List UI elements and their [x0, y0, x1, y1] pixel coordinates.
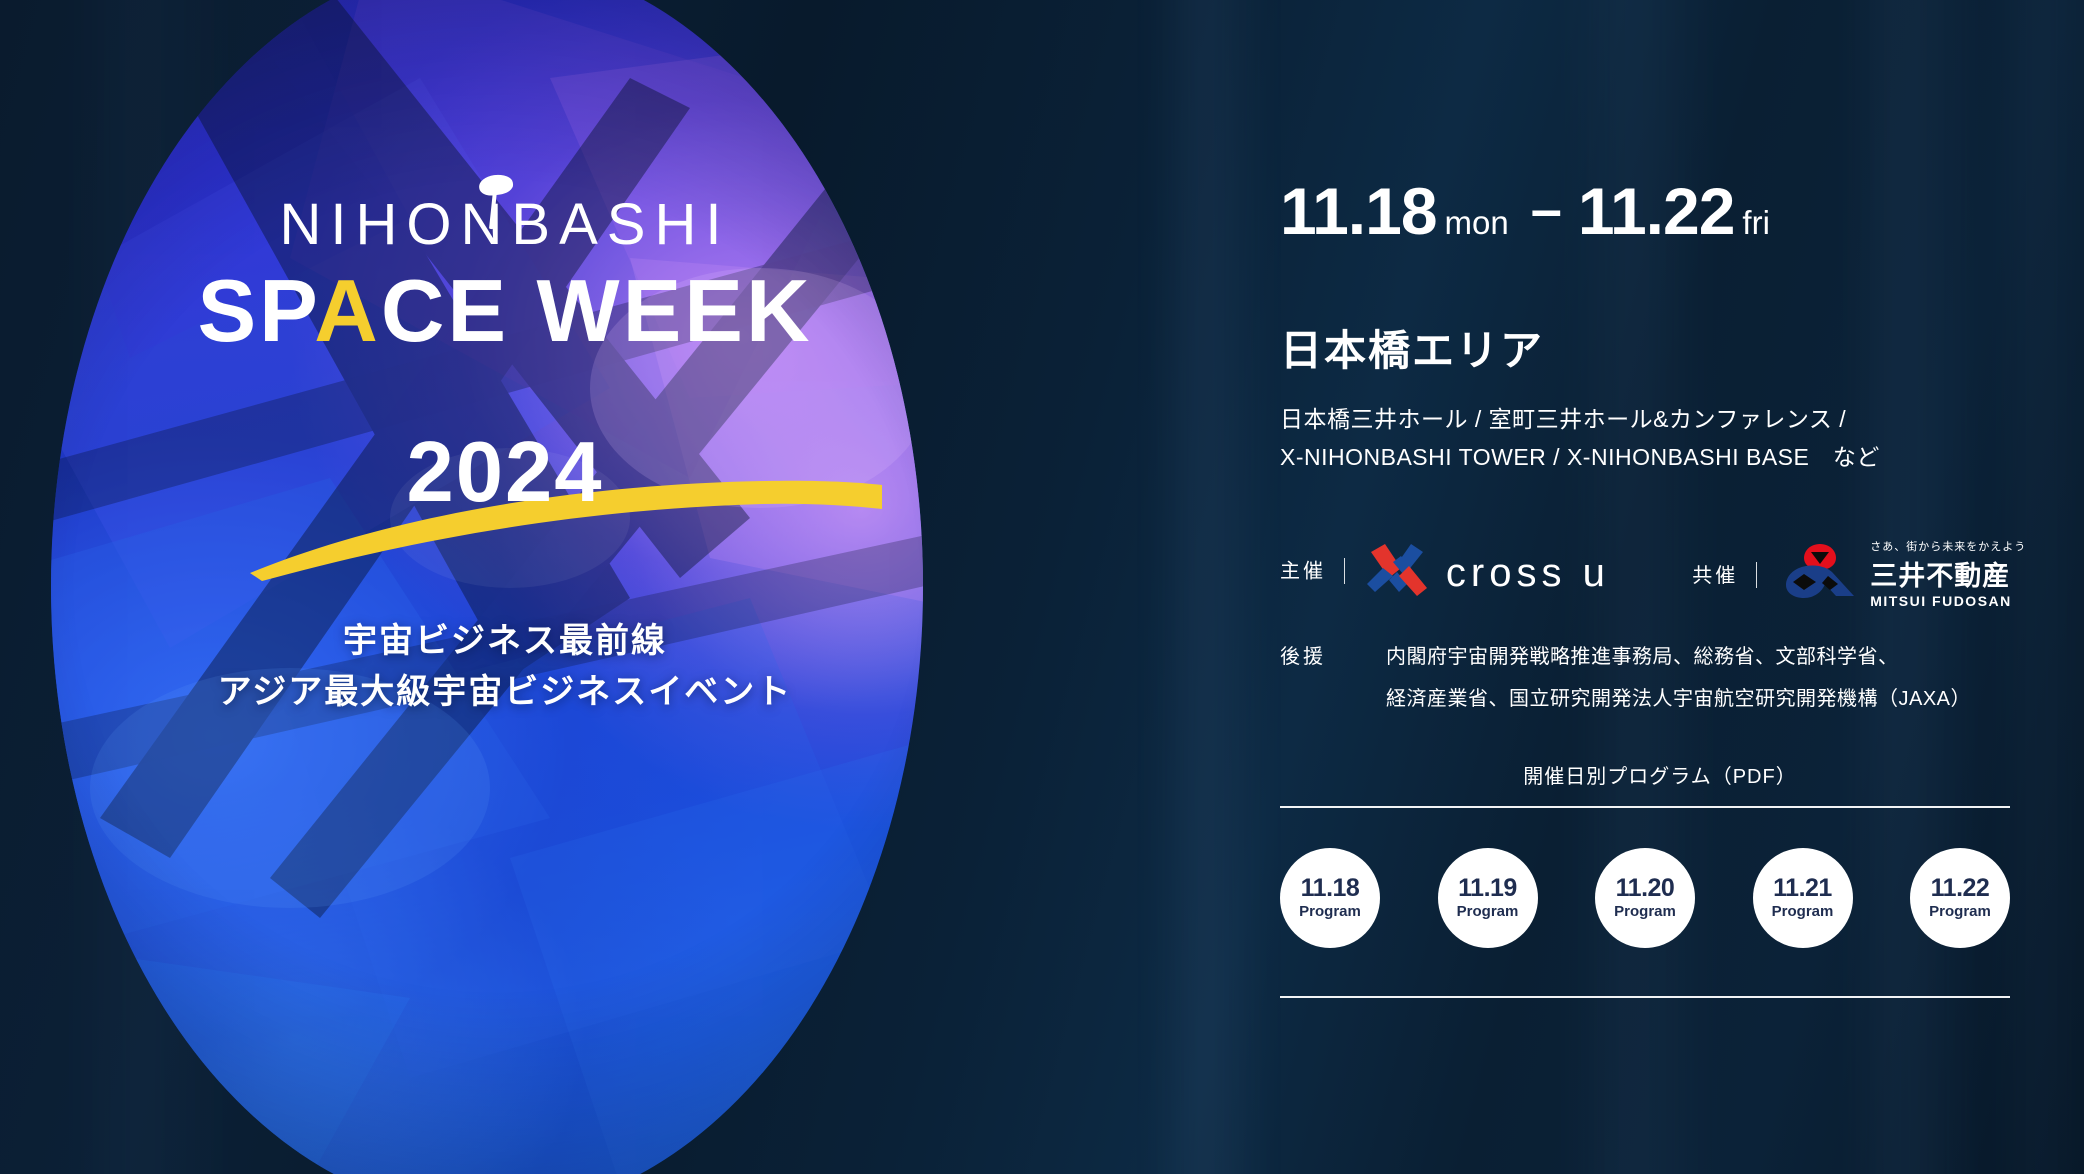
divider [1344, 558, 1345, 584]
end-day: fri [1742, 204, 1770, 241]
program-day-date: 11.21 [1773, 875, 1832, 901]
program-day-button[interactable]: 11.18 Program [1280, 848, 1380, 948]
organizer-row: 主催 cross u 共催 [1280, 538, 2026, 596]
program-day-label: Program [1457, 902, 1519, 922]
program-day-date: 11.20 [1616, 875, 1675, 901]
support-line-1: 内閣府宇宙開発戦略推進事務局、総務省、文部科学省、 [1386, 640, 1899, 669]
divider [1756, 562, 1757, 588]
tagline-line-2: アジア最大級宇宙ビジネスイベント [0, 664, 1010, 713]
program-day-list: 11.18 Program 11.19 Program 11.20 Progra… [1280, 840, 2010, 956]
event-dates: 11.18mon–11.22fri [1280, 178, 1770, 247]
logo-sw-post: CE WEEK [381, 261, 813, 360]
venue-line-2: X-NIHONBASHI TOWER / X-NIHONBASHI BASE な… [1280, 438, 1880, 472]
cohost-tagline: さあ、街から未来をかえよう [1870, 538, 2026, 554]
program-day-date: 11.22 [1931, 875, 1990, 901]
support-line-2: 経済産業省、国立研究開発法人宇宙航空研究開発機構（JAXA） [1386, 682, 1971, 711]
logo-year: 2024 [0, 430, 1010, 515]
divider-bottom [1280, 996, 2010, 998]
support-label: 後援 [1280, 640, 1326, 669]
cross-x-logo-icon [1367, 542, 1427, 605]
divider-top [1280, 806, 2010, 808]
logo-sw-pre: SP [197, 261, 314, 360]
background-streak [1150, 0, 1270, 1174]
start-day: mon [1445, 204, 1509, 241]
program-day-label: Program [1299, 902, 1361, 922]
program-day-button[interactable]: 11.19 Program [1438, 848, 1538, 948]
program-day-date: 11.19 [1458, 875, 1517, 901]
program-day-label: Program [1614, 902, 1676, 922]
start-date: 11.18 [1280, 174, 1437, 248]
mitsui-fudosan-logo-icon [1784, 542, 1856, 605]
program-day-button[interactable]: 11.20 Program [1595, 848, 1695, 948]
program-day-date: 11.18 [1301, 875, 1360, 901]
event-info-panel: 11.18mon–11.22fri 日本橋エリア 日本橋三井ホール / 室町三井… [1280, 0, 2040, 1174]
program-day-button[interactable]: 11.21 Program [1753, 848, 1853, 948]
host-label: 主催 [1280, 561, 1326, 583]
program-day-label: Program [1772, 902, 1834, 922]
event-area: 日本橋エリア [1280, 317, 1544, 378]
logo-sw-accent-a: A [314, 261, 381, 360]
program-day-label: Program [1929, 902, 1991, 922]
cohost-name-jp: 三井不動産 [1870, 554, 2026, 593]
tagline-line-1: 宇宙ビジネス最前線 [0, 613, 1010, 662]
host-name: cross u [1446, 551, 1610, 595]
cohost-label: 共催 [1692, 565, 1738, 587]
date-range-dash: – [1531, 177, 1562, 240]
program-day-button[interactable]: 11.22 Program [1910, 848, 2010, 948]
cohost-name-en: MITSUI FUDOSAN [1870, 593, 2026, 609]
logo-space-week: SPACE WEEK [0, 267, 1010, 355]
logo-nihonbashi: NIHONBASHI [0, 196, 1010, 254]
hero-banner: NIHONBASHI SPACE WEEK 2024 宇宙ビジネス最前線 アジア… [0, 0, 2084, 1174]
event-logo-block: NIHONBASHI SPACE WEEK 2024 宇宙ビジネス最前線 アジア… [0, 0, 1010, 1174]
program-pdf-heading: 開催日別プログラム（PDF） [1280, 760, 2040, 789]
venue-line-1: 日本橋三井ホール / 室町三井ホール&カンファレンス / [1280, 400, 1846, 434]
end-date: 11.22 [1578, 174, 1735, 248]
